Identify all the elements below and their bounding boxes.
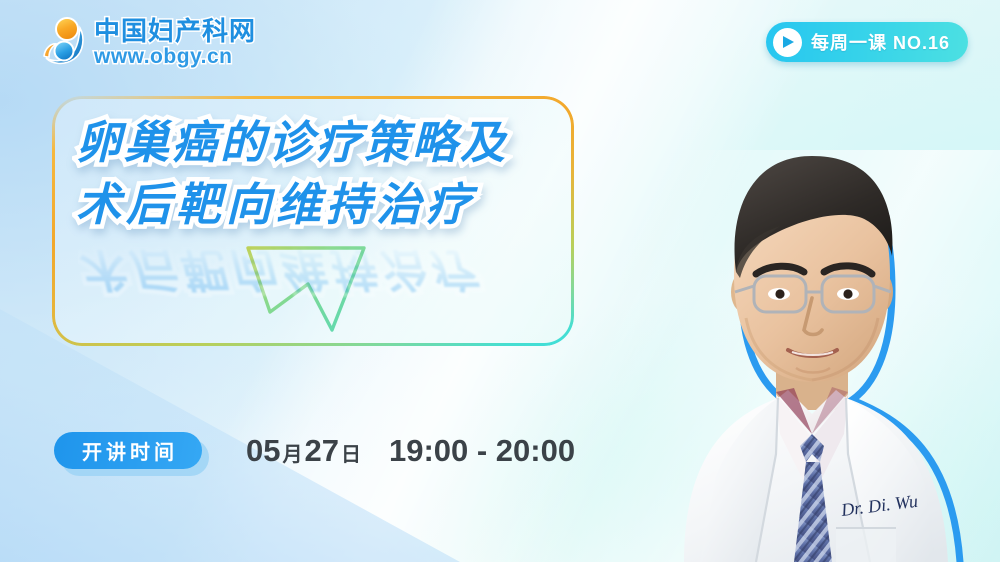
doctor-portrait-illustration: Dr. Di. Wu <box>580 42 1000 562</box>
schedule-day: 27 <box>304 433 338 469</box>
obgy-mother-child-logo-icon <box>40 14 88 70</box>
title-line-1: 卵巢癌的诊疗策略及 <box>76 112 546 174</box>
site-logo[interactable]: 中国妇产科网 www.obgy.cn <box>40 14 256 70</box>
schedule-datetime: 05 月 27 日 19:00 - 20:00 <box>246 433 575 469</box>
eye-left <box>775 289 784 298</box>
logo-wordmark: 中国妇产科网 www.obgy.cn <box>94 18 256 67</box>
speech-bubble-tail <box>246 246 366 332</box>
schedule-month: 05 <box>246 433 280 469</box>
schedule-pill-wrapper: 开讲时间 <box>54 432 202 469</box>
schedule-pill-label: 开讲时间 <box>78 436 178 465</box>
schedule-month-unit: 月 <box>280 438 304 467</box>
title-line-2: 术后靶向维持治疗 <box>76 174 546 236</box>
coat-pocket <box>836 528 896 562</box>
schedule-row: 开讲时间 05 月 27 日 19:00 - 20:00 <box>54 432 575 469</box>
logo-site-name: 中国妇产科网 <box>94 18 256 44</box>
schedule-pill: 开讲时间 <box>54 432 202 469</box>
logo-site-url: www.obgy.cn <box>94 46 256 67</box>
webinar-poster: 中国妇产科网 www.obgy.cn 每周一课 NO.16 术后靶向维持治疗 卵… <box>0 0 1000 562</box>
page-title: 卵巢癌的诊疗策略及 术后靶向维持治疗 <box>76 112 546 236</box>
eye-right <box>843 289 852 298</box>
schedule-day-unit: 日 <box>339 438 363 467</box>
doctor-portrait: Dr. Di. Wu <box>580 42 1000 562</box>
schedule-time-range: 19:00 - 20:00 <box>389 433 575 469</box>
